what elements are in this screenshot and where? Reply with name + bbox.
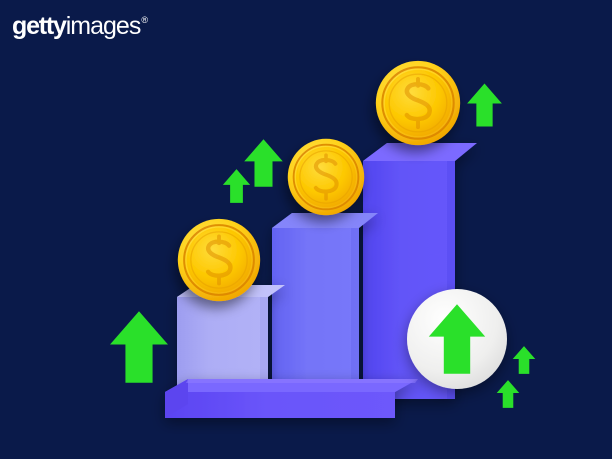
growth-badge — [407, 289, 507, 389]
coin-mid — [288, 139, 364, 215]
growth-chart-illustration — [0, 0, 612, 459]
arrow-top-right — [467, 84, 502, 127]
arrow-left-large — [110, 311, 168, 383]
base-platform — [165, 379, 418, 418]
bar-medium — [272, 213, 378, 400]
watermark-bold-text: getty — [12, 14, 66, 39]
arrow-mid-small — [223, 169, 250, 203]
watermark-light-text: images — [66, 14, 141, 39]
coin-low — [178, 219, 260, 301]
coin-high — [376, 61, 460, 145]
arrow-mid-large — [244, 139, 283, 187]
arrow-right-small-a — [513, 346, 536, 374]
getty-images-watermark: getty images ® — [12, 14, 148, 39]
illustration-canvas: getty images ® — [0, 0, 612, 459]
arrow-right-small-b — [497, 380, 520, 408]
watermark-registered-icon: ® — [141, 16, 148, 25]
